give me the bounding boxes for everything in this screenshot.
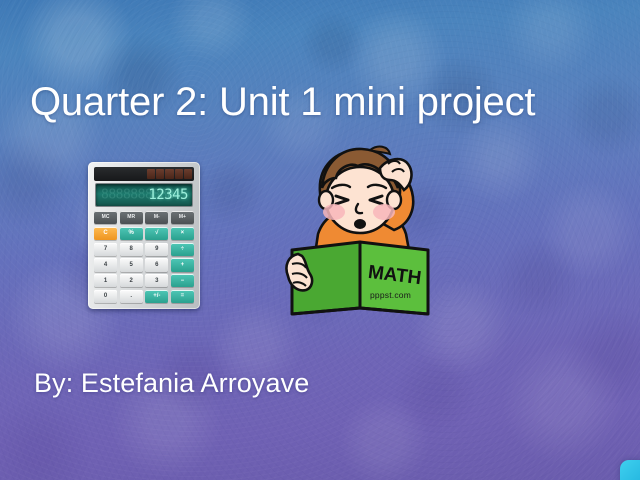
solar-panel-icon [147, 169, 192, 179]
calculator-key-percent: % [120, 227, 143, 240]
calculator-keypad: MC MR M- M+ C % √ × 7 8 9 ÷ 4 5 6 + 1 2 … [94, 211, 194, 303]
calculator-key-plus: + [171, 258, 194, 271]
calculator-body: 8888888888 12345 MC MR M- M+ C % √ × 7 8… [88, 162, 200, 309]
calculator-key-4: 4 [94, 258, 117, 271]
calculator-key-multiply: × [171, 227, 194, 240]
calculator-key-m-minus: M- [145, 211, 168, 224]
calculator-key-sign: +/- [145, 290, 168, 303]
calculator-key-3: 3 [145, 274, 168, 287]
app-badge-icon[interactable] [620, 460, 640, 480]
calculator-display-value: 12345 [148, 187, 188, 203]
calculator-key-8: 8 [120, 243, 143, 256]
calculator-key-equals: = [171, 290, 194, 303]
calculator-key-sqrt: √ [145, 227, 168, 240]
presentation-slide: Quarter 2: Unit 1 mini project 888888888… [0, 0, 640, 480]
boy-reading-math-book-icon: MATH pppst.com [284, 138, 436, 318]
calculator-key-2: 2 [120, 274, 143, 287]
calculator-key-decimal: . [120, 290, 143, 303]
calculator-key-7: 7 [94, 243, 117, 256]
calculator-image: 8888888888 12345 MC MR M- M+ C % √ × 7 8… [88, 162, 200, 309]
calculator-key-m-plus: M+ [171, 211, 194, 224]
calculator-key-divide: ÷ [171, 243, 194, 256]
calculator-key-minus: − [171, 274, 194, 287]
slide-title: Quarter 2: Unit 1 mini project [30, 80, 620, 124]
calculator-key-0: 0 [94, 290, 117, 303]
calculator-key-6: 6 [145, 258, 168, 271]
image-watermark: pppst.com [370, 290, 411, 300]
calculator-key-9: 9 [145, 243, 168, 256]
calculator-top-panel [94, 167, 194, 181]
calculator-display: 8888888888 12345 [95, 183, 193, 207]
slide-author: By: Estefania Arroyave [34, 368, 309, 399]
calculator-key-5: 5 [120, 258, 143, 271]
calculator-key-clear: C [94, 227, 117, 240]
calculator-key-1: 1 [94, 274, 117, 287]
calculator-key-mr: MR [120, 211, 143, 224]
calculator-key-mc: MC [94, 211, 117, 224]
